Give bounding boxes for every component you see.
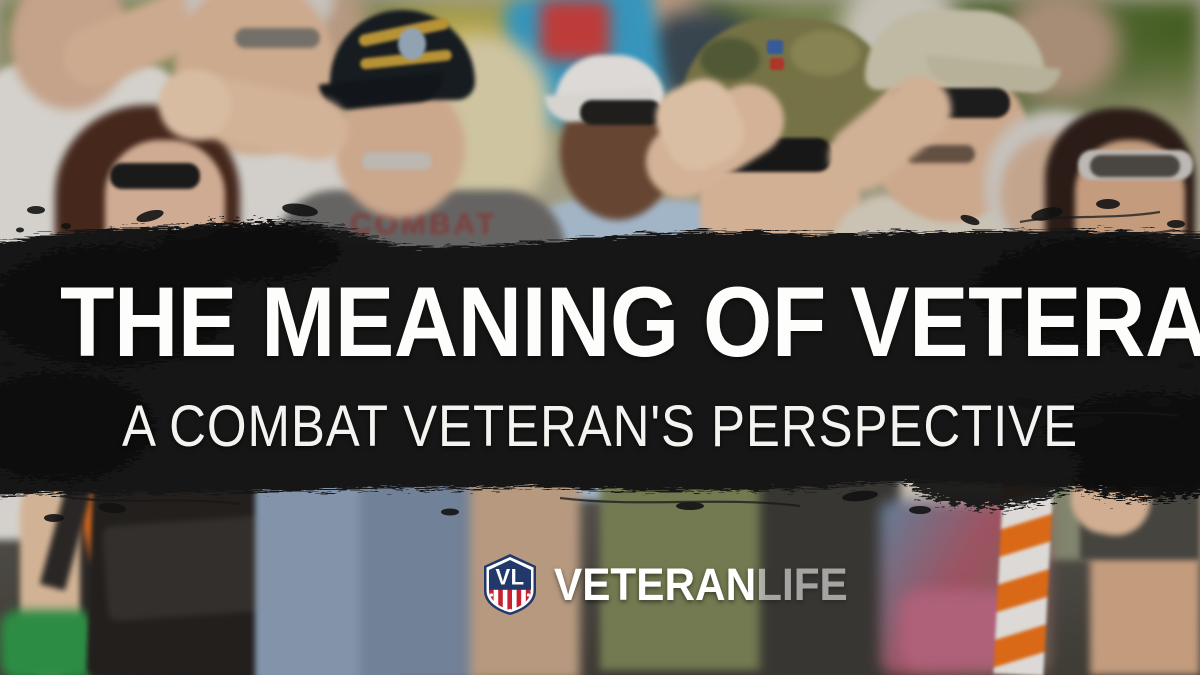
vl-shield-icon: VL [478, 551, 542, 617]
wordmark-veteran: VETERAN [554, 559, 756, 610]
veterans-day-graphic: COMBAT [0, 0, 1200, 675]
wordmark-life: LIFE [756, 559, 848, 610]
headline-title: THE MEANING OF VETERANS DAY [60, 272, 1140, 371]
veteranlife-logo[interactable]: VL VETERANLIFE [478, 551, 867, 617]
headline-subtitle: A COMBAT VETERAN'S PERSPECTIVE [72, 398, 1128, 456]
svg-text:VL: VL [495, 565, 524, 590]
veteranlife-wordmark: VETERANLIFE [554, 562, 848, 607]
